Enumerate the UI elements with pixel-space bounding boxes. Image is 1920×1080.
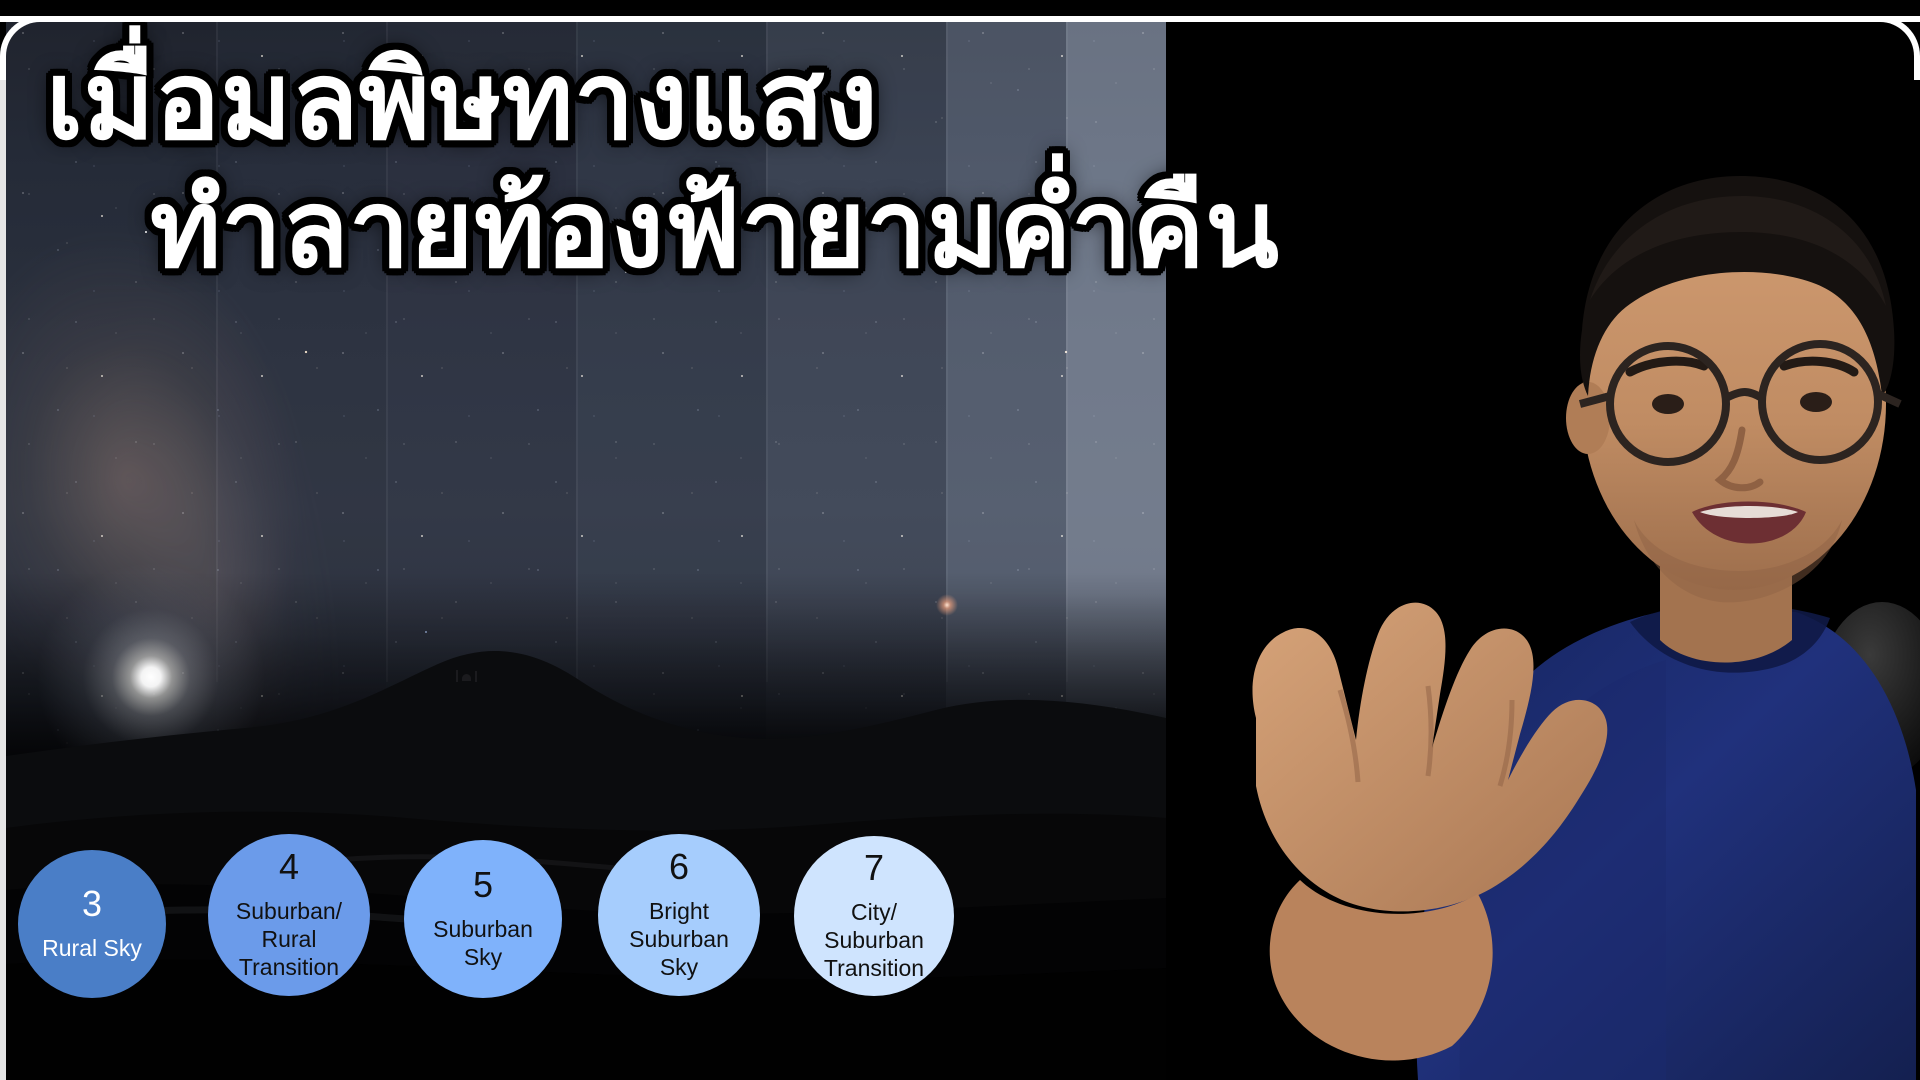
bortle-number: 6 [669,849,689,885]
bortle-label: Rural Sky [26,934,158,962]
night-sky-photo [6,22,1166,1080]
bortle-number: 3 [82,886,102,922]
presenter-neck [1660,544,1792,663]
presenter-hair [1580,176,1894,396]
bortle-label: BrightSuburbanSky [613,897,745,981]
presenter-head [1582,218,1886,590]
bortle-label: City/SuburbanTransition [808,898,940,982]
bortle-circle-3[interactable]: 3Rural Sky [18,850,166,998]
bortle-number: 5 [473,867,493,903]
bortle-circle-4[interactable]: 4Suburban/RuralTransition [208,834,370,996]
presenter-mouth [1692,502,1806,544]
glasses-icon [1580,344,1900,462]
bortle-circle-5[interactable]: 5SuburbanSky [404,840,562,998]
bortle-circle-7[interactable]: 7City/SuburbanTransition [794,836,954,996]
bortle-number: 7 [864,850,884,886]
frame-top-bar [0,0,1920,22]
microphone-icon [1820,602,1920,1000]
right-vignette [1360,22,1920,1080]
presenter-hand [1252,603,1607,1061]
thumbnail-stage: เมื่อมลพิษทางแสง ทำลายท้องฟ้ายามค่ำคืน 3… [0,0,1920,1080]
bortle-circle-6[interactable]: 6BrightSuburbanSky [598,834,760,996]
presenter-shirt [1416,612,1916,1080]
bortle-label: Suburban/RuralTransition [220,897,358,981]
presenter-figure [1160,0,1920,1080]
bortle-number: 4 [279,849,299,885]
horizon-star-fade [6,22,1166,1080]
frame-corner-right [1856,16,1920,80]
bortle-label: SuburbanSky [417,915,549,971]
